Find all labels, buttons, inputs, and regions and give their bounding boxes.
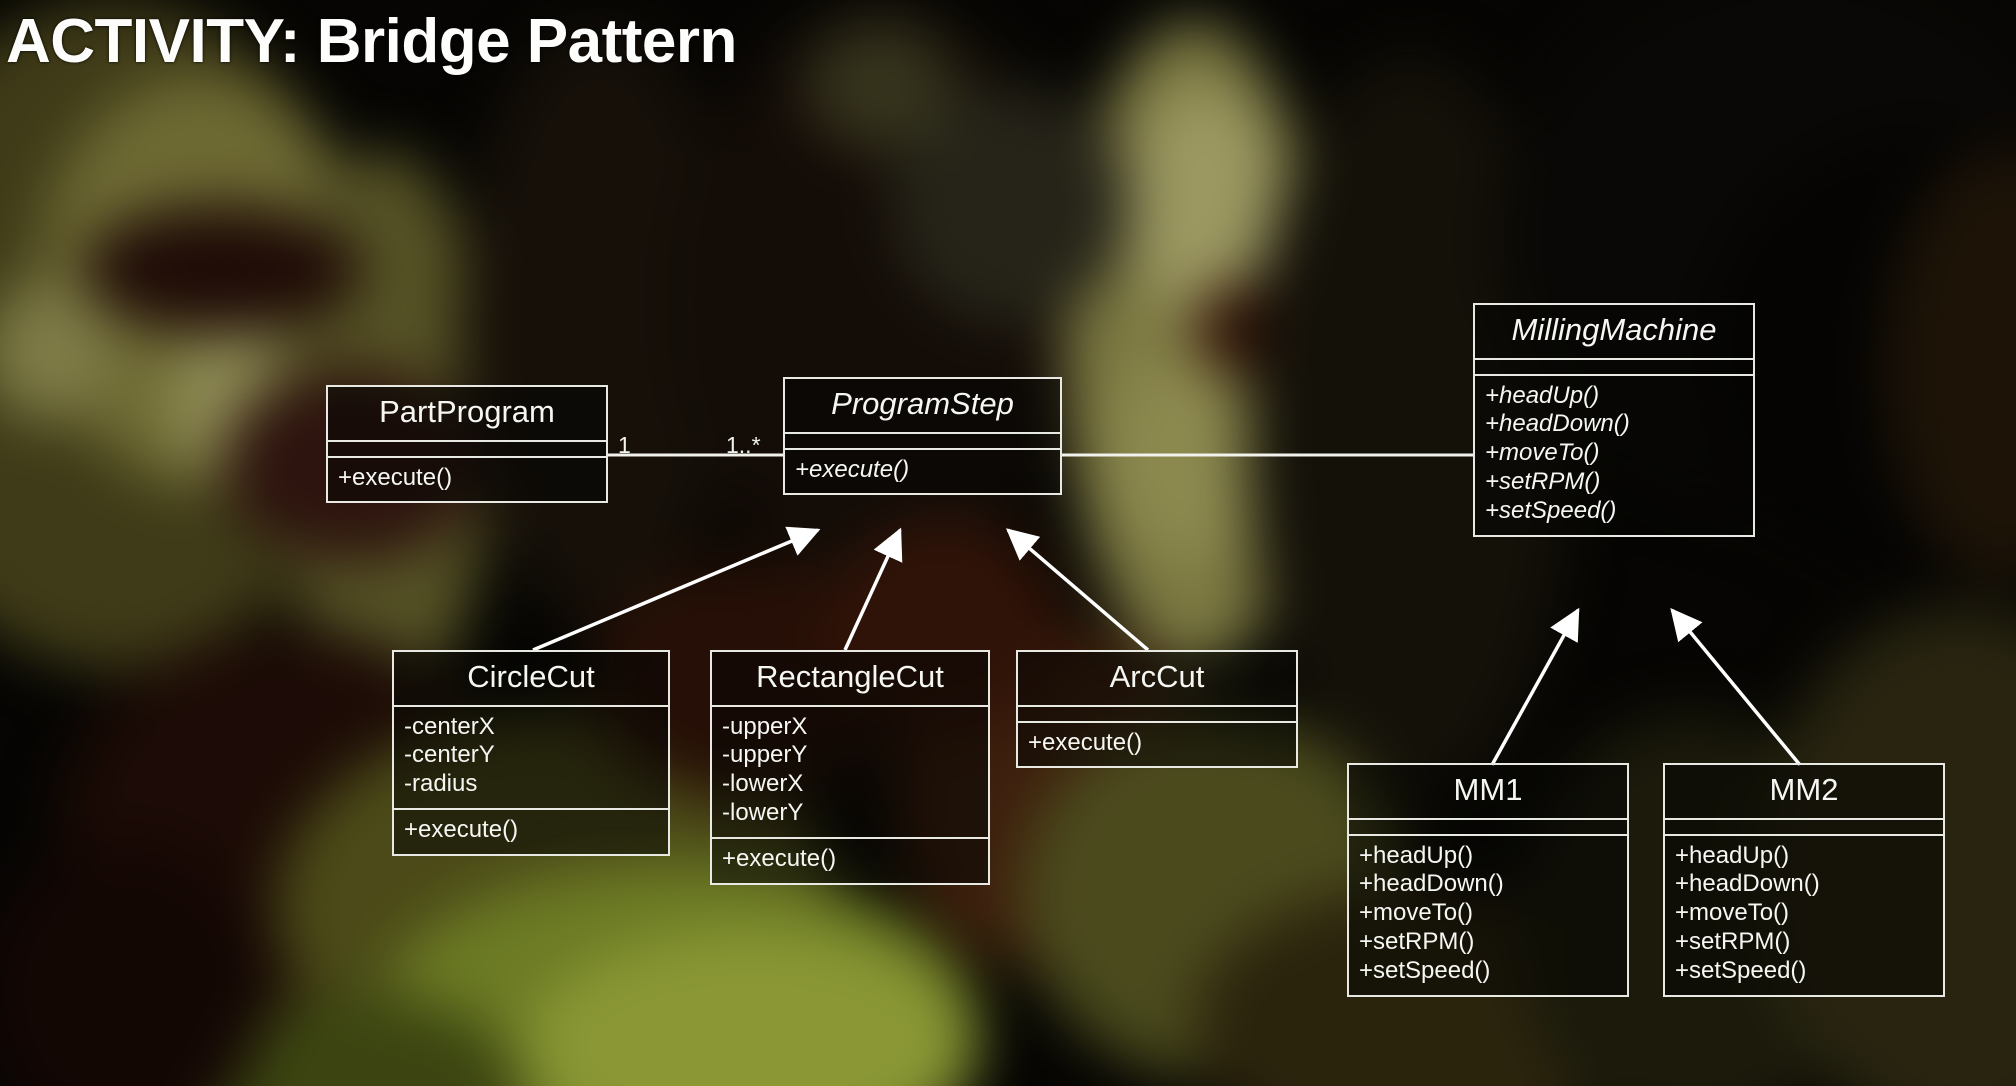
class-member: +moveTo() xyxy=(1359,899,1617,928)
class-name-circlecut: CircleCut xyxy=(394,652,668,705)
class-member: +headDown() xyxy=(1485,410,1743,439)
operations-compartment-mm2: +headUp()+headDown()+moveTo()+setRPM()+s… xyxy=(1665,836,1943,995)
class-box-millingmachine[interactable]: MillingMachine +headUp()+headDown()+move… xyxy=(1473,303,1755,537)
class-member: +setRPM() xyxy=(1675,928,1933,957)
class-member: +execute() xyxy=(722,845,978,874)
class-box-programstep[interactable]: ProgramStep +execute() xyxy=(783,377,1062,495)
operations-compartment-circlecut: +execute() xyxy=(394,810,668,854)
class-box-mm2[interactable]: MM2 +headUp()+headDown()+moveTo()+setRPM… xyxy=(1663,763,1945,997)
class-member: +headDown() xyxy=(1675,870,1933,899)
attributes-compartment-mm2 xyxy=(1665,820,1943,834)
class-name-partprogram: PartProgram xyxy=(328,387,606,440)
class-member: +headUp() xyxy=(1675,842,1933,871)
operations-compartment-arccut: +execute() xyxy=(1018,723,1296,767)
class-member: +execute() xyxy=(795,456,1050,485)
class-member: -upperX xyxy=(722,713,978,742)
class-member: +moveTo() xyxy=(1485,439,1743,468)
operations-compartment-millingmachine: +headUp()+headDown()+moveTo()+setRPM()+s… xyxy=(1475,376,1753,535)
class-member: -centerX xyxy=(404,713,658,742)
class-member: -lowerX xyxy=(722,770,978,799)
attributes-compartment-programstep xyxy=(785,434,1060,448)
class-box-mm1[interactable]: MM1 +headUp()+headDown()+moveTo()+setRPM… xyxy=(1347,763,1629,997)
operations-compartment-mm1: +headUp()+headDown()+moveTo()+setRPM()+s… xyxy=(1349,836,1627,995)
attributes-compartment-partprogram xyxy=(328,442,606,456)
class-member: +execute() xyxy=(1028,729,1286,758)
attributes-compartment-arccut xyxy=(1018,707,1296,721)
class-member: +headUp() xyxy=(1485,382,1743,411)
class-name-mm2: MM2 xyxy=(1665,765,1943,818)
class-box-arccut[interactable]: ArcCut +execute() xyxy=(1016,650,1298,768)
slide-canvas: ACTIVITY: Bridge Pattern 1 1..* PartProg… xyxy=(0,0,2016,1086)
attributes-compartment-millingmachine xyxy=(1475,360,1753,374)
class-member: +setRPM() xyxy=(1359,928,1617,957)
attributes-compartment-rectanglecut: -upperX-upperY-lowerX-lowerY xyxy=(712,707,988,838)
operations-compartment-rectanglecut: +execute() xyxy=(712,839,988,883)
page-title: ACTIVITY: Bridge Pattern xyxy=(6,6,737,77)
class-member: +setRPM() xyxy=(1485,468,1743,497)
class-name-rectanglecut: RectangleCut xyxy=(712,652,988,705)
class-member: +moveTo() xyxy=(1675,899,1933,928)
class-box-circlecut[interactable]: CircleCut -centerX-centerY-radius +execu… xyxy=(392,650,670,856)
class-member: +headDown() xyxy=(1359,870,1617,899)
class-name-millingmachine: MillingMachine xyxy=(1475,305,1753,358)
class-member: +setSpeed() xyxy=(1485,497,1743,526)
attributes-compartment-mm1 xyxy=(1349,820,1627,834)
class-member: +execute() xyxy=(338,464,596,493)
class-name-mm1: MM1 xyxy=(1349,765,1627,818)
attributes-compartment-circlecut: -centerX-centerY-radius xyxy=(394,707,668,809)
class-box-partprogram[interactable]: PartProgram +execute() xyxy=(326,385,608,503)
class-name-programstep: ProgramStep xyxy=(785,379,1060,432)
class-member: -upperY xyxy=(722,741,978,770)
multiplicity-partprogram-end: 1 xyxy=(618,432,631,459)
class-member: +headUp() xyxy=(1359,842,1617,871)
class-box-rectanglecut[interactable]: RectangleCut -upperX-upperY-lowerX-lower… xyxy=(710,650,990,885)
multiplicity-programstep-end: 1..* xyxy=(726,432,761,459)
class-member: -lowerY xyxy=(722,799,978,828)
class-member: -centerY xyxy=(404,741,658,770)
class-member: -radius xyxy=(404,770,658,799)
class-name-arccut: ArcCut xyxy=(1018,652,1296,705)
class-member: +setSpeed() xyxy=(1675,957,1933,986)
class-member: +execute() xyxy=(404,816,658,845)
operations-compartment-programstep: +execute() xyxy=(785,450,1060,494)
operations-compartment-partprogram: +execute() xyxy=(328,458,606,502)
class-member: +setSpeed() xyxy=(1359,957,1617,986)
